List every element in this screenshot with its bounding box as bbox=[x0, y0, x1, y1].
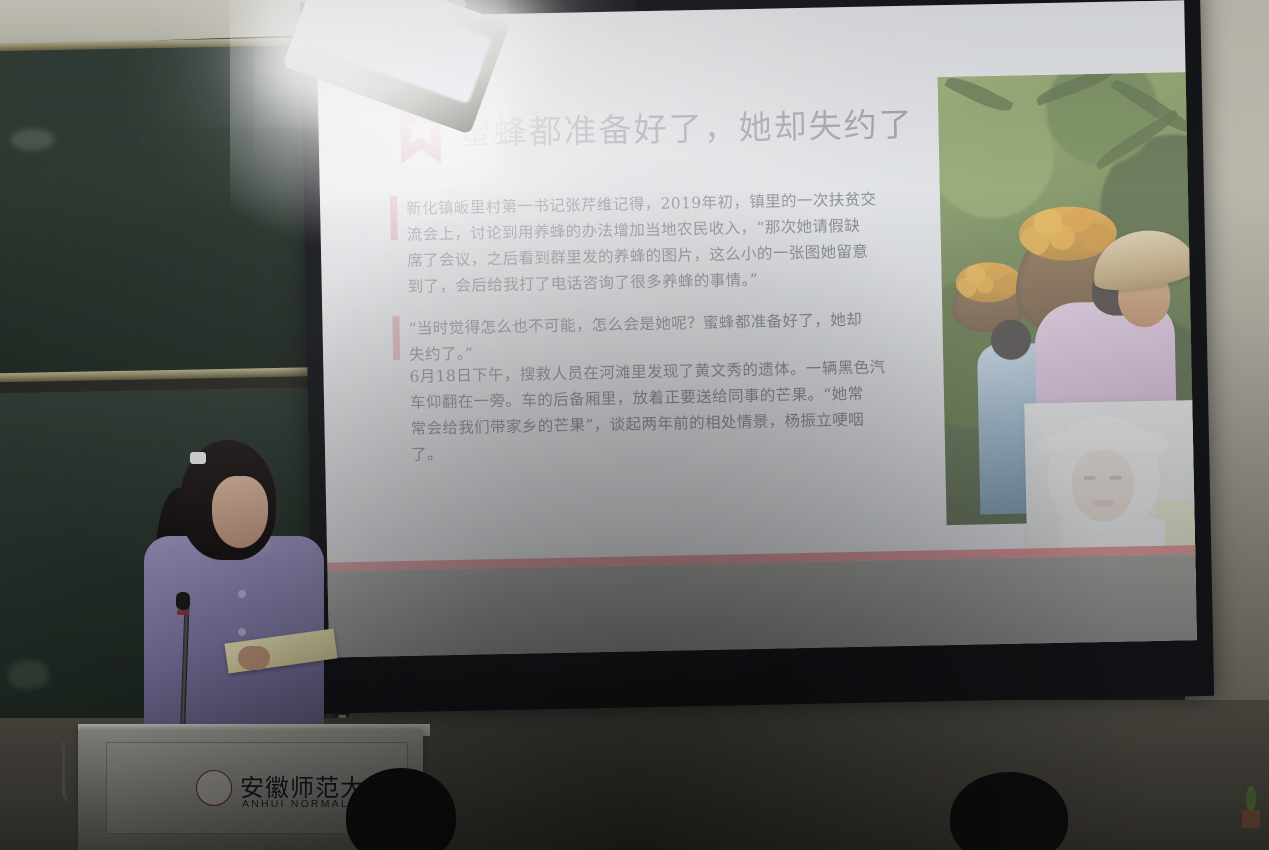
chalk-smudge bbox=[10, 128, 54, 151]
potted-plant bbox=[1238, 782, 1264, 828]
presenter-figure bbox=[150, 440, 340, 740]
paragraph-accent-bar bbox=[390, 196, 398, 240]
microphone-head bbox=[176, 592, 190, 610]
slide-paragraph-1: 新化镇皈里村第一书记张芹维记得，2019年初，镇里的一次扶贫交 流会上，讨论到用… bbox=[406, 185, 948, 300]
university-logo-icon bbox=[196, 770, 232, 806]
microphone-ring bbox=[177, 610, 189, 615]
classroom-photo-scene: 蜜蜂都准备好了，她却失约了 新化镇皈里村第一书记张芹维记得，2019年初，镇里的… bbox=[0, 0, 1269, 850]
hair-clip bbox=[190, 452, 206, 464]
shirt-button bbox=[238, 590, 246, 598]
chalk-smudge bbox=[8, 660, 49, 689]
paragraph-accent-bar bbox=[392, 316, 400, 360]
chalkboard-upper bbox=[0, 45, 349, 374]
slide-title: 蜜蜂都准备好了，她却失约了 bbox=[458, 96, 999, 155]
plant-pot bbox=[1242, 810, 1260, 828]
shirt-button bbox=[238, 628, 246, 636]
slide-footer-band bbox=[327, 554, 1197, 657]
hand bbox=[238, 646, 270, 670]
plant-leaf bbox=[1246, 786, 1256, 812]
face bbox=[212, 476, 268, 548]
podium-cable bbox=[62, 742, 81, 802]
slide-paragraph-3: 6月18日下午，搜救人员在河滩里发现了黄文秀的遗体。一辆黑色汽 车仰翻在一旁。车… bbox=[409, 353, 951, 468]
